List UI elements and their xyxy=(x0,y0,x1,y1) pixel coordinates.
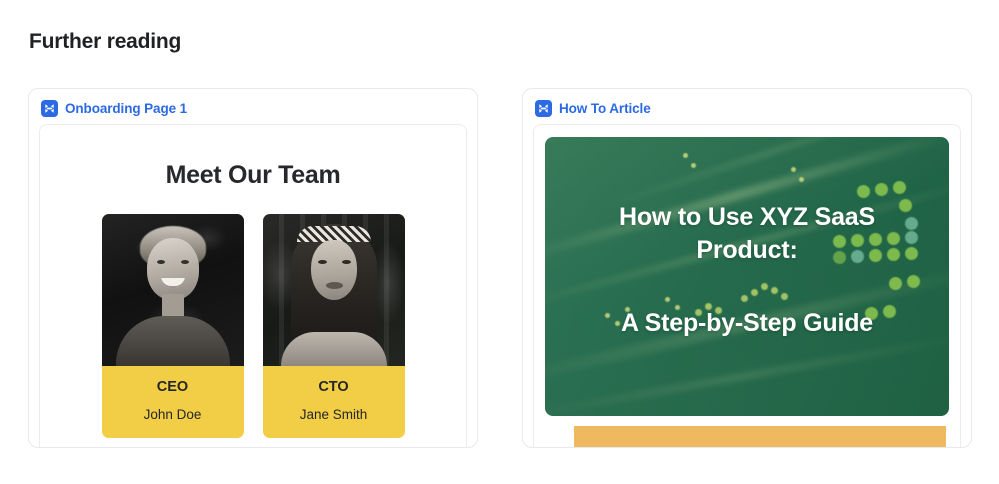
team-member-role: CEO xyxy=(102,379,244,395)
embed-link-icon xyxy=(41,100,58,117)
team-page-heading: Meet Our Team xyxy=(40,161,466,190)
team-member-caption: CEO John Doe xyxy=(102,366,244,438)
team-member-name: Jane Smith xyxy=(263,407,405,422)
team-member-caption: CTO Jane Smith xyxy=(263,366,405,438)
card-title-link[interactable]: Onboarding Page 1 xyxy=(65,101,187,116)
team-member-photo xyxy=(263,214,405,366)
card-header[interactable]: Onboarding Page 1 xyxy=(29,89,477,117)
card-header[interactable]: How To Article xyxy=(523,89,971,117)
embed-card-onboarding-page-1[interactable]: Onboarding Page 1 Meet Our Team xyxy=(28,88,478,448)
further-reading-page: Further reading Onboarding Page 1 Meet O xyxy=(0,0,999,484)
article-hero-image: How to Use XYZ SaaS Product: A Step-by-S… xyxy=(545,137,949,416)
team-member-name: John Doe xyxy=(102,407,244,422)
card-title-link[interactable]: How To Article xyxy=(559,101,651,116)
article-hero-subtitle: A Step-by-Step Guide xyxy=(545,309,949,338)
article-hero-title: How to Use XYZ SaaS Product: xyxy=(545,201,949,267)
team-member-card: CEO John Doe xyxy=(102,214,244,438)
team-member-photo xyxy=(102,214,244,366)
article-accent-strip xyxy=(574,426,946,448)
further-reading-card-list: Onboarding Page 1 Meet Our Team xyxy=(28,88,972,450)
embed-link-icon xyxy=(535,100,552,117)
team-member-role: CTO xyxy=(263,379,405,395)
card-preview-body: Meet Our Team CEO xyxy=(39,124,467,448)
page-title: Further reading xyxy=(29,30,181,54)
embed-card-how-to-article[interactable]: How To Article xyxy=(522,88,972,448)
card-preview-body: How to Use XYZ SaaS Product: A Step-by-S… xyxy=(533,124,961,448)
team-member-card: CTO Jane Smith xyxy=(263,214,405,438)
team-member-grid: CEO John Doe xyxy=(40,214,466,438)
